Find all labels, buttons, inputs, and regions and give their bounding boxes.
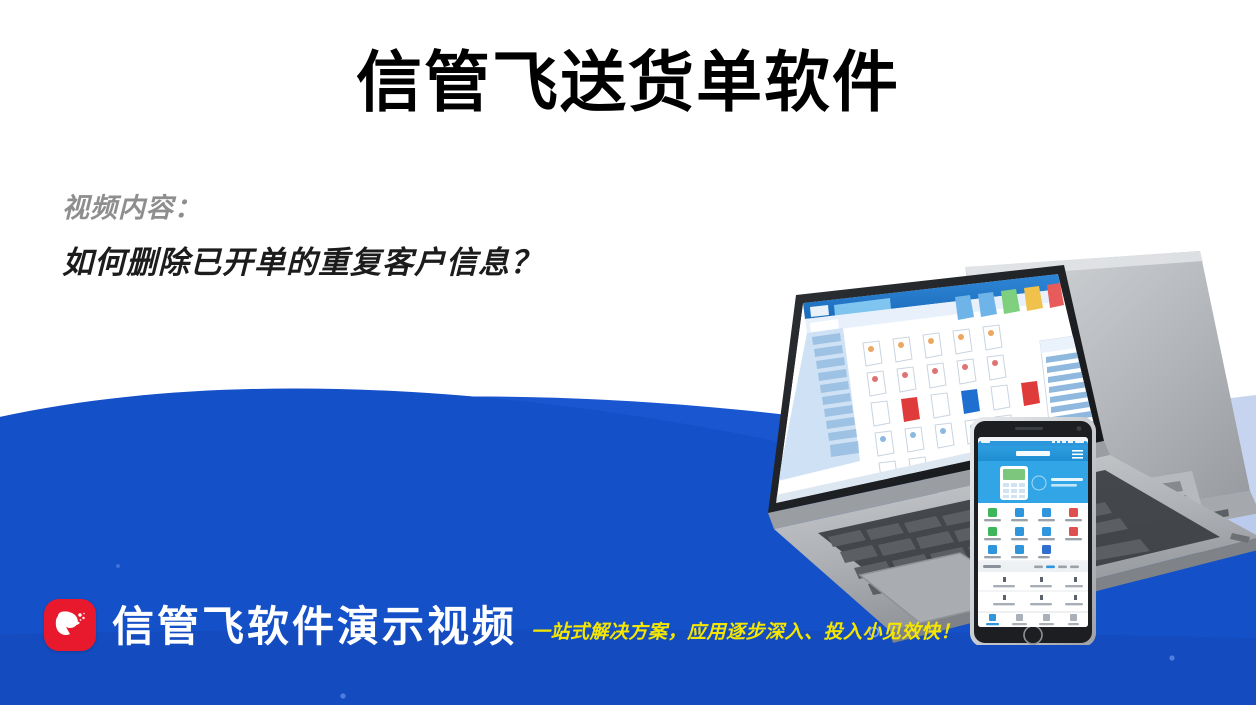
phone-front-camera-icon — [1077, 426, 1082, 431]
chart-icon — [1043, 614, 1050, 621]
phone-banner — [978, 461, 1088, 503]
video-content-label: 视频内容： — [62, 188, 542, 229]
phone-stats-title — [983, 565, 1001, 568]
page-title: 信管飞送货单软件 — [0, 44, 1256, 122]
phone-app-title — [1016, 451, 1050, 456]
video-content-block: 视频内容： 如何删除已开单的重复客户信息？ — [62, 188, 542, 285]
phone-mockup — [970, 417, 1096, 645]
phone-app-screen — [978, 437, 1088, 627]
device-mockup-illustration — [560, 245, 1256, 645]
user-icon — [1070, 614, 1077, 621]
phone-stats-panel — [978, 572, 1088, 612]
phone-banner-text-2 — [1051, 484, 1077, 487]
list-icon — [1016, 614, 1023, 621]
slide-canvas: 信管飞送货单软件 视频内容： 如何删除已开单的重复客户信息？ — [0, 0, 1256, 705]
brand-tagline: 一站式解决方案，应用逐步深入、投入小见效快！ — [531, 617, 960, 651]
phone-banner-text-1 — [1051, 478, 1083, 481]
erp-icon-highlight-red2 — [1021, 381, 1040, 406]
xinguanfei-bird-logo-icon — [44, 599, 96, 651]
brand-logo — [44, 599, 96, 651]
footer-brand-bar: 信管飞软件演示视频 一站式解决方案，应用逐步深入、投入小见效快！ — [44, 599, 960, 651]
erp-icon-highlight-red — [901, 397, 920, 422]
phone-earpiece — [1015, 427, 1043, 430]
erp-logo-chip — [810, 305, 829, 317]
hamburger-menu-icon[interactable] — [1072, 450, 1083, 459]
erp-icon-highlight-blue — [961, 389, 980, 414]
brand-name: 信管飞软件演示视频 — [112, 606, 517, 651]
home-icon — [989, 614, 996, 621]
video-content-question: 如何删除已开单的重复客户信息？ — [62, 241, 542, 286]
